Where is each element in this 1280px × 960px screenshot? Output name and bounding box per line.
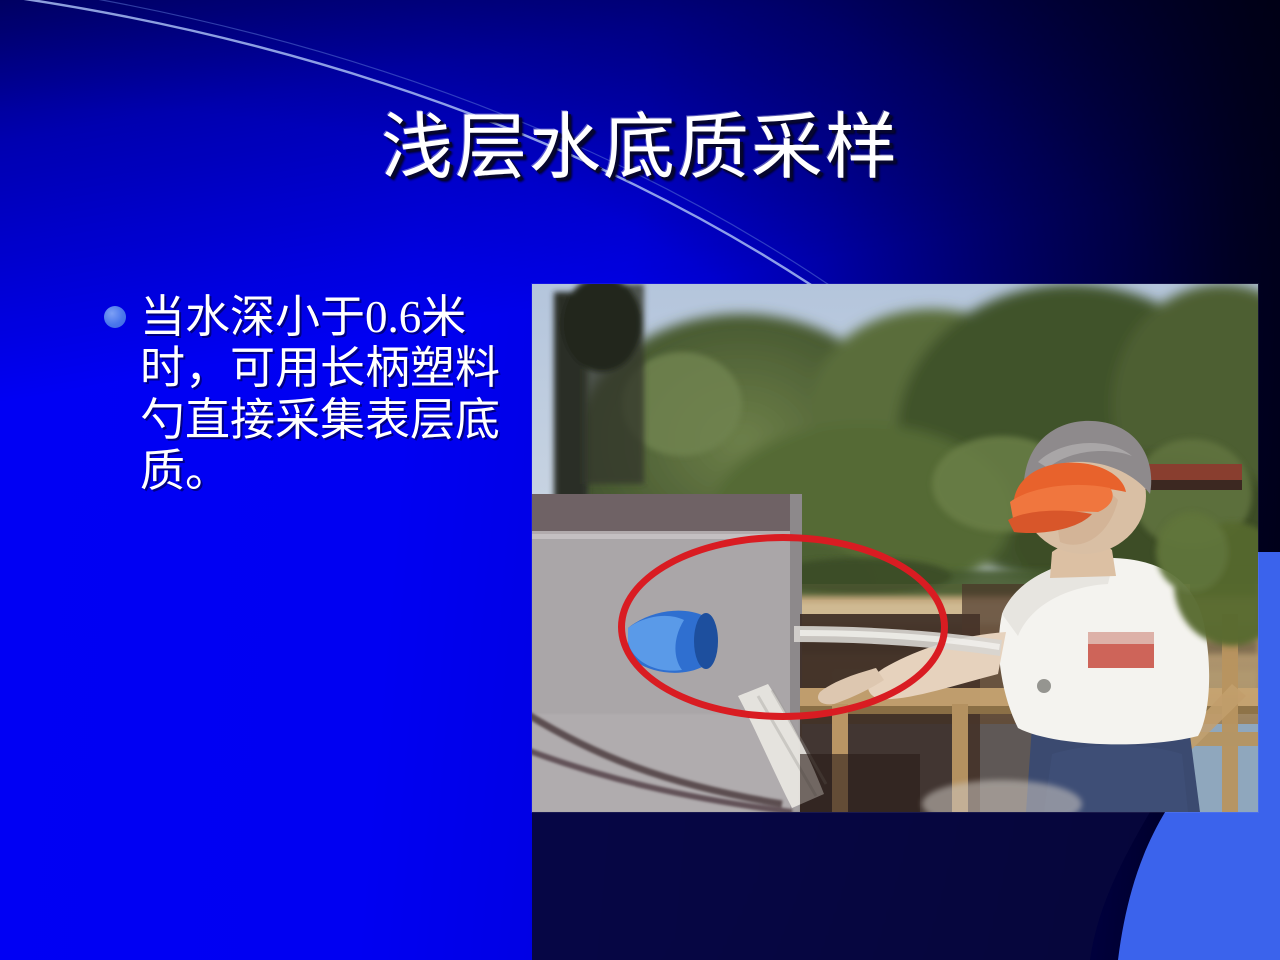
- slide-photo: [532, 284, 1258, 812]
- bullet-dot-icon: [104, 306, 126, 328]
- presentation-slide: 浅层水底质采样 当水深小于0.6米时，可用长柄塑料勺直接采集表层底质。: [0, 0, 1280, 960]
- bullet-item-text: 当水深小于0.6米时，可用长柄塑料勺直接采集表层底质。: [140, 292, 504, 497]
- bullet-list: 当水深小于0.6米时，可用长柄塑料勺直接采集表层底质。: [104, 292, 504, 497]
- slide-title: 浅层水底质采样: [0, 112, 1280, 184]
- photo-illustration: [532, 284, 1258, 812]
